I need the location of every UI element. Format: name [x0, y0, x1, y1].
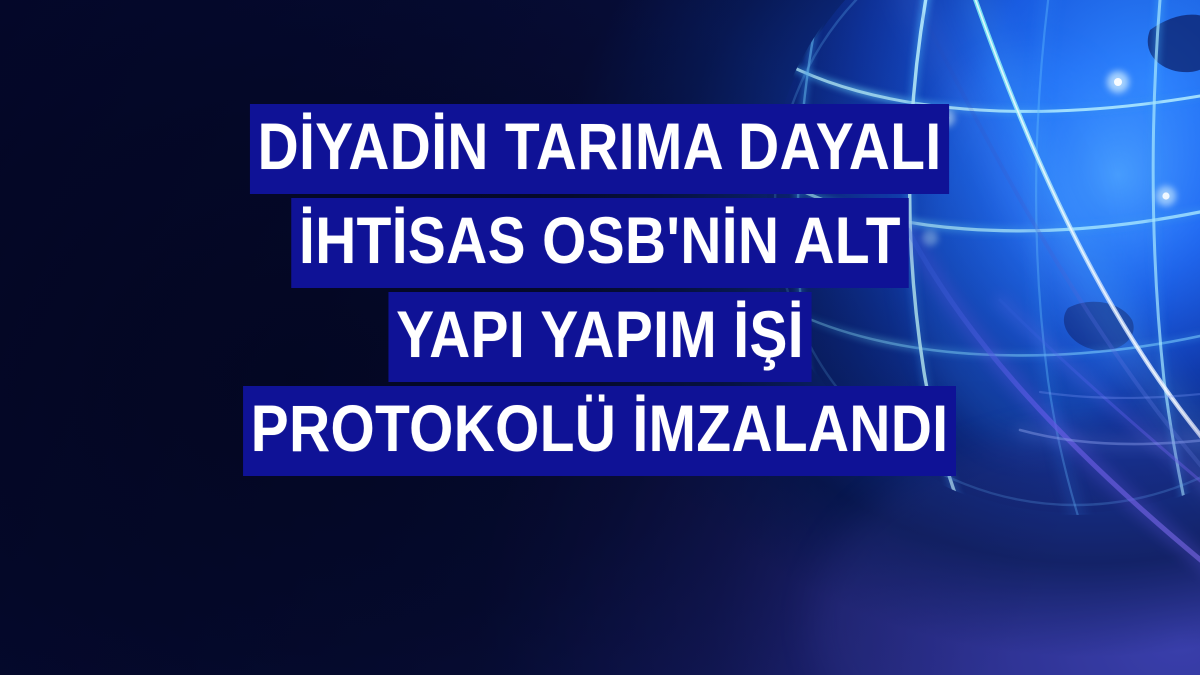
headline-line-text: YAPI YAPIM İŞİ [388, 292, 811, 382]
headline-line-text: İHTİSAS OSB'NİN ALT [291, 198, 908, 288]
headline-line: İHTİSAS OSB'NİN ALT [0, 198, 1200, 288]
headline-line-text: DİYADİN TARIMA DAYALI [250, 104, 949, 194]
headline-line: YAPI YAPIM İŞİ [0, 292, 1200, 382]
headline: DİYADİN TARIMA DAYALI İHTİSAS OSB'NİN AL… [0, 104, 1200, 476]
headline-line: DİYADİN TARIMA DAYALI [0, 104, 1200, 194]
headline-card: DİYADİN TARIMA DAYALI İHTİSAS OSB'NİN AL… [0, 0, 1200, 675]
headline-line: PROTOKOLÜ İMZALANDI [0, 386, 1200, 476]
headline-line-text: PROTOKOLÜ İMZALANDI [243, 386, 956, 476]
